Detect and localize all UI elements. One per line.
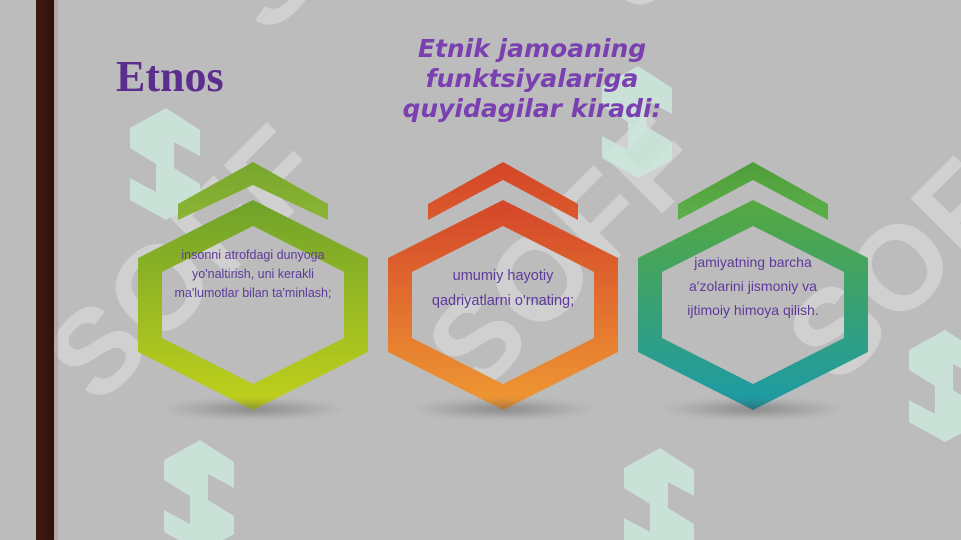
- watermark-text: SOFF: [905, 0, 961, 28]
- watermark-text: SOFF: [560, 0, 890, 38]
- page-subtitle: Etnik jamoaning funktsiyalariga quyidagi…: [372, 34, 692, 124]
- hex-shadow: [413, 398, 593, 420]
- watermark-logo-icon: [160, 440, 234, 540]
- hex-label-3: jamiyatning barcha a'zolarini jismoniy v…: [668, 250, 838, 322]
- hex-label-1: insonni atrofdagi dunyoga yo'naltirish, …: [168, 246, 338, 303]
- left-accent-bar-edge: [54, 0, 58, 540]
- slide-canvas: SOFF SOFF SOFF SOFF SOFF SOFF Etnos Etni…: [0, 0, 961, 540]
- hex-shadow: [163, 398, 343, 420]
- hex-label-2: umumiy hayotiy qadriyatlarni o'rnating;: [418, 264, 588, 314]
- hex-shadow: [663, 398, 843, 420]
- hex-item-1[interactable]: insonni atrofdagi dunyoga yo'naltirish, …: [138, 160, 368, 440]
- page-title: Etnos: [116, 52, 224, 102]
- left-accent-bar: [36, 0, 54, 540]
- watermark-logo-icon: [905, 330, 961, 442]
- watermark-logo-icon: [620, 448, 694, 540]
- hex-ring-1: [138, 200, 368, 410]
- hex-item-2[interactable]: umumiy hayotiy qadriyatlarni o'rnating;: [388, 160, 618, 440]
- hex-item-3[interactable]: jamiyatning barcha a'zolarini jismoniy v…: [638, 160, 868, 440]
